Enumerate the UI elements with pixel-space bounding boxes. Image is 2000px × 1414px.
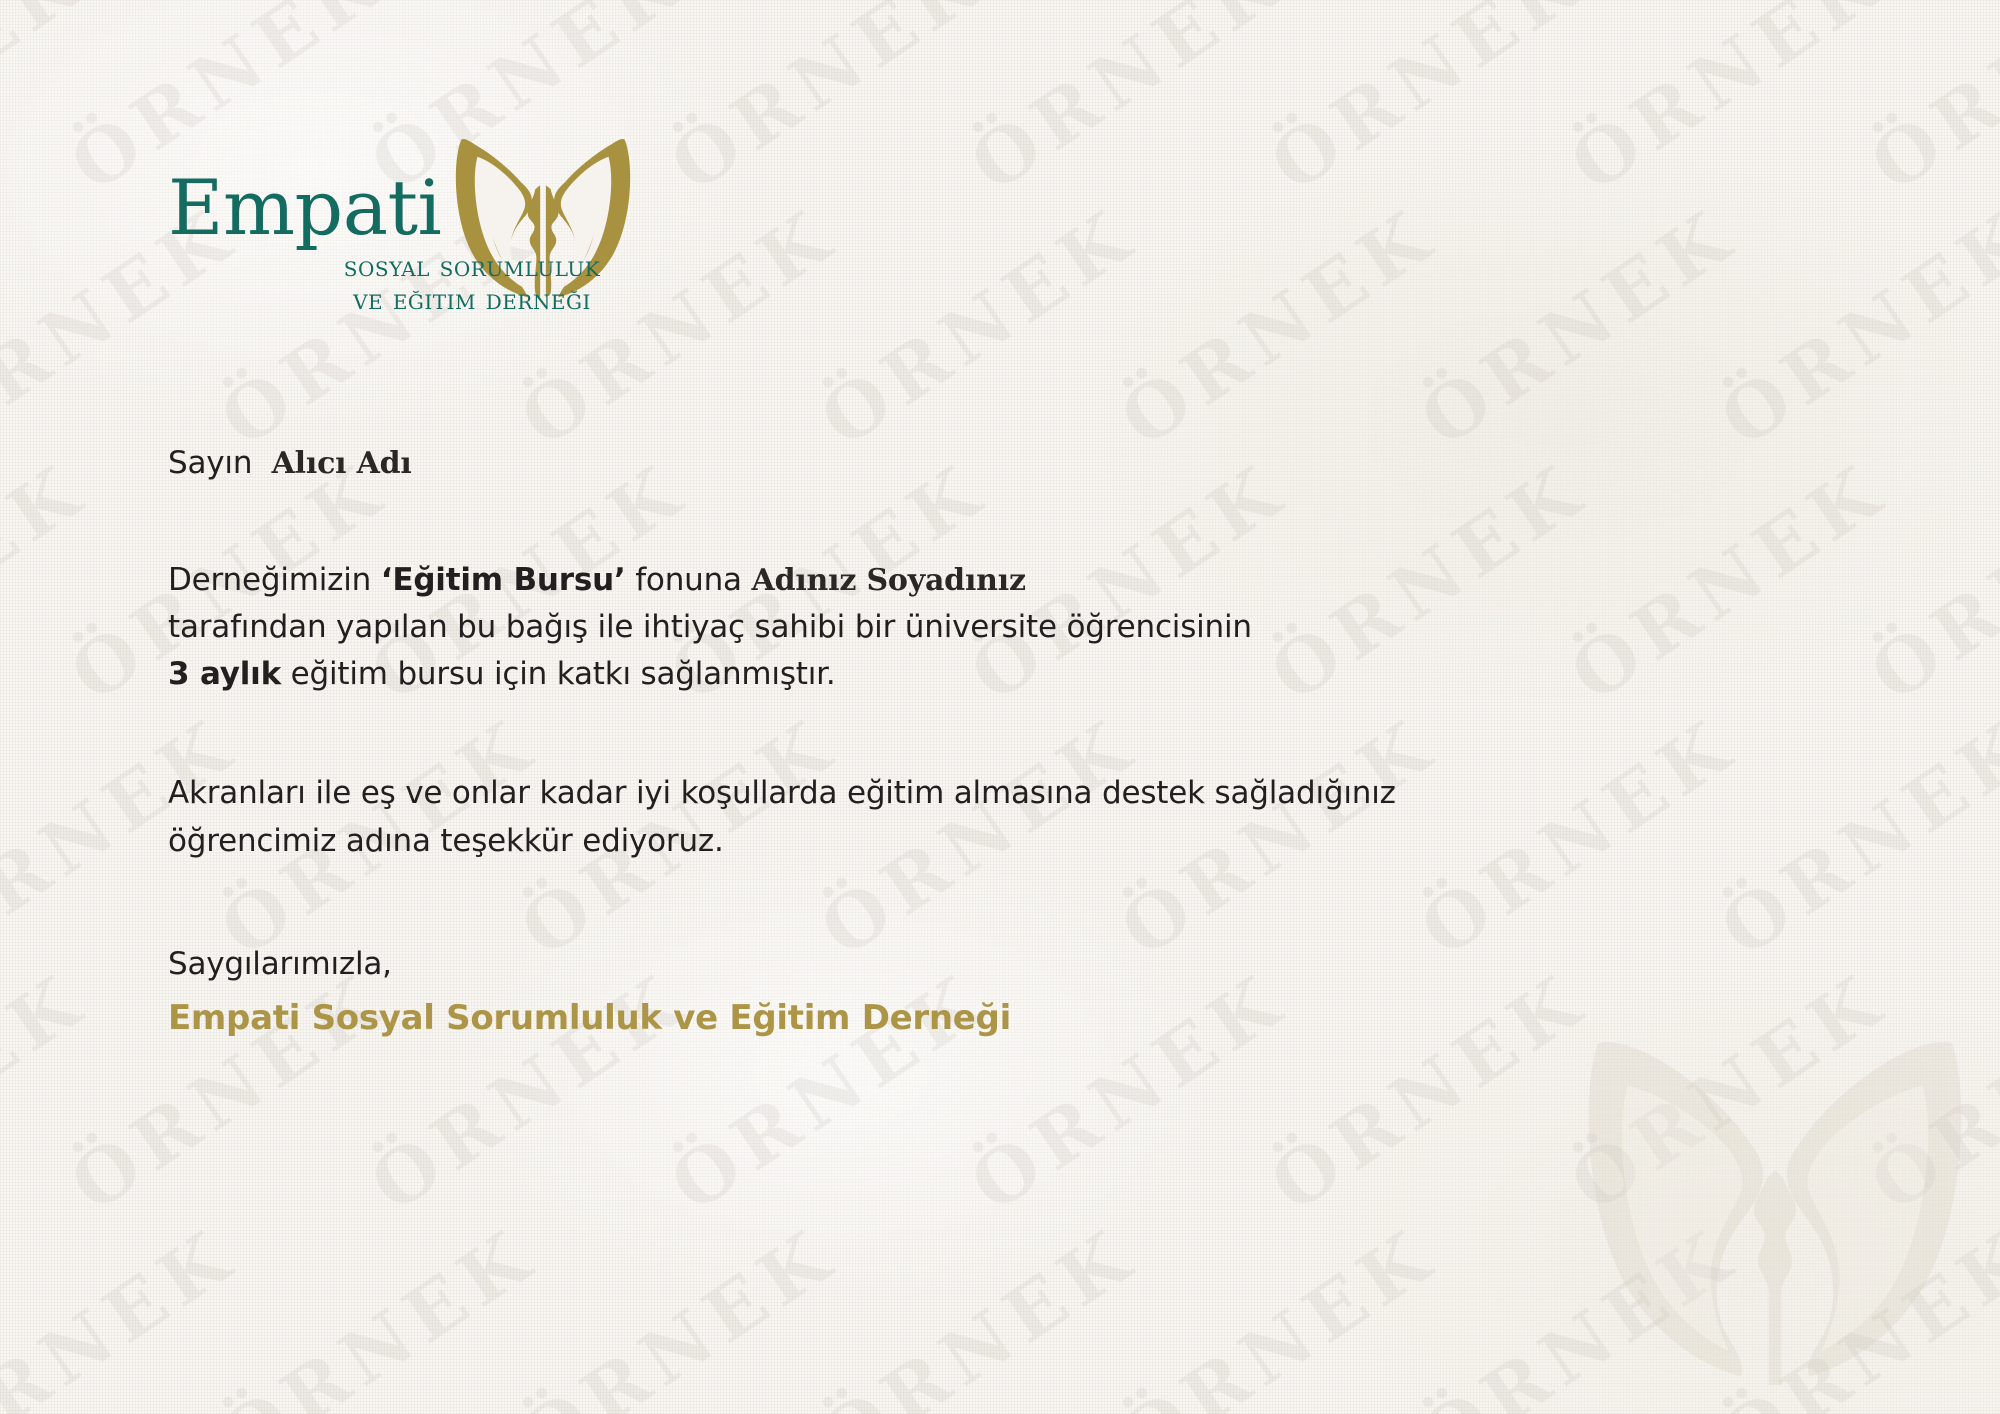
- paragraph-1-line-3: 3 aylık eğitim bursu için katkı sağlanmı…: [168, 651, 1768, 698]
- logo-subtitle-line-1: Sosyal Sorumluluk: [307, 250, 637, 283]
- spacer-3: [168, 865, 1768, 941]
- logo-subtitle-line-2: Ve Eğitim Derneği: [307, 283, 637, 316]
- paragraph-1-line-1: Derneğimizin ‘Eğitim Bursu’ fonuna Adını…: [168, 557, 1768, 604]
- salutation-line: Sayın Alıcı Adı: [168, 440, 1768, 487]
- letter-body: Sayın Alıcı Adı Derneğimizin ‘Eğitim Bur…: [168, 440, 1768, 1038]
- paragraph-2-line-2: öğrencimiz adına teşekkür ediyoruz.: [168, 818, 1768, 865]
- fund-name: ‘Eğitim Bursu’: [381, 562, 626, 598]
- paragraph-1: Derneğimizin ‘Eğitim Bursu’ fonuna Adını…: [168, 557, 1768, 698]
- donation-certificate: ÖRNEKÖRNEKÖRNEKÖRNEKÖRNEKÖRNEKÖRNEKÖRNEK…: [0, 0, 2000, 1414]
- logo-wordmark: Empati: [168, 170, 441, 246]
- salutation-label: Sayın: [168, 445, 252, 481]
- logo-subtitle: Sosyal Sorumluluk Ve Eğitim Derneği: [307, 250, 637, 316]
- paragraph-1-line-2: tarafından yapılan bu bağış ile ihtiyaç …: [168, 604, 1768, 651]
- spacer-2: [168, 698, 1768, 770]
- scholarship-duration: 3 aylık: [168, 656, 281, 692]
- p1-line3-rest: eğitim bursu için katkı sağlanmıştır.: [281, 656, 835, 692]
- paragraph-2-line-1: Akranları ile eş ve onlar kadar iyi koşu…: [168, 770, 1768, 817]
- recipient-name: Alıcı Adı: [272, 446, 412, 481]
- p1-text-after-fund: fonuna: [626, 562, 752, 598]
- paragraph-2: Akranları ile eş ve onlar kadar iyi koşu…: [168, 770, 1768, 864]
- closing-line: Saygılarımızla,: [168, 941, 1768, 988]
- donor-name: Adınız Soyadınız: [752, 563, 1026, 598]
- organization-logo: Empati Sosyal Sorumluluk Ve Eğitim Derne…: [168, 128, 638, 328]
- signature-organization: Empati Sosyal Sorumluluk ve Eğitim Derne…: [168, 998, 1768, 1038]
- p1-text-before-fund: Derneğimizin: [168, 562, 381, 598]
- spacer-1: [168, 487, 1768, 557]
